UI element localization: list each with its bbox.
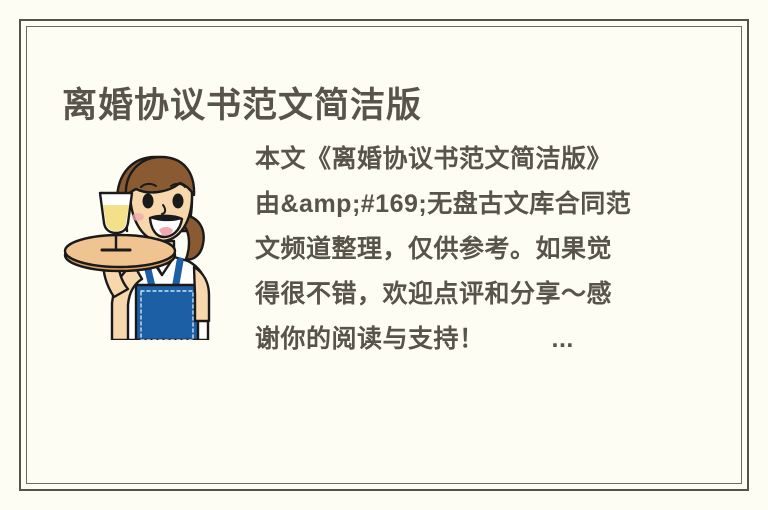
article-card: 离婚协议书范文简洁版	[19, 19, 749, 491]
summary-line: 谢你的阅读与支持！ ...	[255, 317, 695, 362]
summary-line: 本文《离婚协议书范文简洁版》	[255, 137, 695, 182]
summary-line: 由&amp;#169;无盘古文库合同范	[255, 182, 695, 227]
page-title: 离婚协议书范文简洁版	[62, 88, 422, 123]
article-card-inner-border: 离婚协议书范文简洁版	[26, 26, 742, 484]
summary-line: 得很不错，欢迎点评和分享～感	[255, 272, 695, 317]
summary-line: 文频道整理，仅供参考。如果觉	[255, 227, 695, 272]
waitress-with-tray-illustration	[62, 145, 212, 340]
article-summary-text: 本文《离婚协议书范文简洁版》 由&amp;#169;无盘古文库合同范 文频道整理…	[255, 137, 695, 362]
